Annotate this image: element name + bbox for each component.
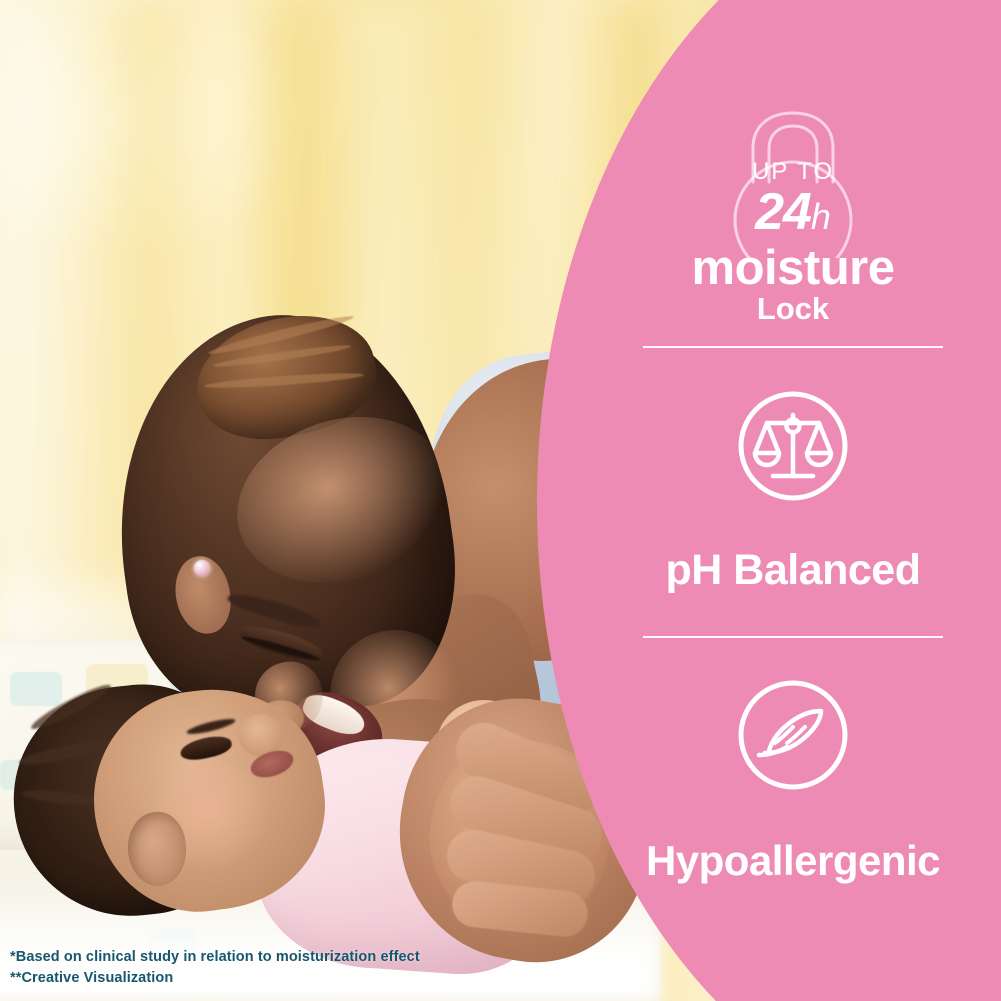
feature-label: Hypoallergenic — [646, 837, 940, 885]
moisture-lock-text: UP TO 24h moisture Lock — [643, 160, 943, 324]
feather-icon — [737, 679, 849, 791]
moisture-label: moisture — [643, 244, 943, 293]
duration-number: 24 — [755, 183, 811, 241]
footnotes: *Based on clinical study in relation to … — [10, 947, 420, 989]
feature-hypoallergenic: Hypoallergenic — [643, 638, 943, 926]
balance-scales-icon — [737, 390, 849, 502]
lock-label: Lock — [643, 293, 943, 324]
footnote-line-2: **Creative Visualization — [10, 968, 420, 989]
feature-list: UP TO 24h moisture Lock — [643, 0, 943, 1001]
mother-earring — [194, 560, 210, 576]
up-to-label: UP TO — [643, 160, 943, 184]
duration-unit: h — [811, 196, 831, 237]
footnote-line-1: *Based on clinical study in relation to … — [10, 947, 420, 968]
feature-label: pH Balanced — [666, 546, 921, 595]
feature-ph-balanced: pH Balanced — [643, 348, 943, 636]
advertisement-canvas: UP TO 24h moisture Lock — [0, 0, 1001, 1001]
bedding-motif — [10, 672, 62, 706]
moisture-lock-badge: UP TO 24h moisture Lock — [643, 0, 943, 346]
duration-value: 24h — [643, 186, 943, 238]
